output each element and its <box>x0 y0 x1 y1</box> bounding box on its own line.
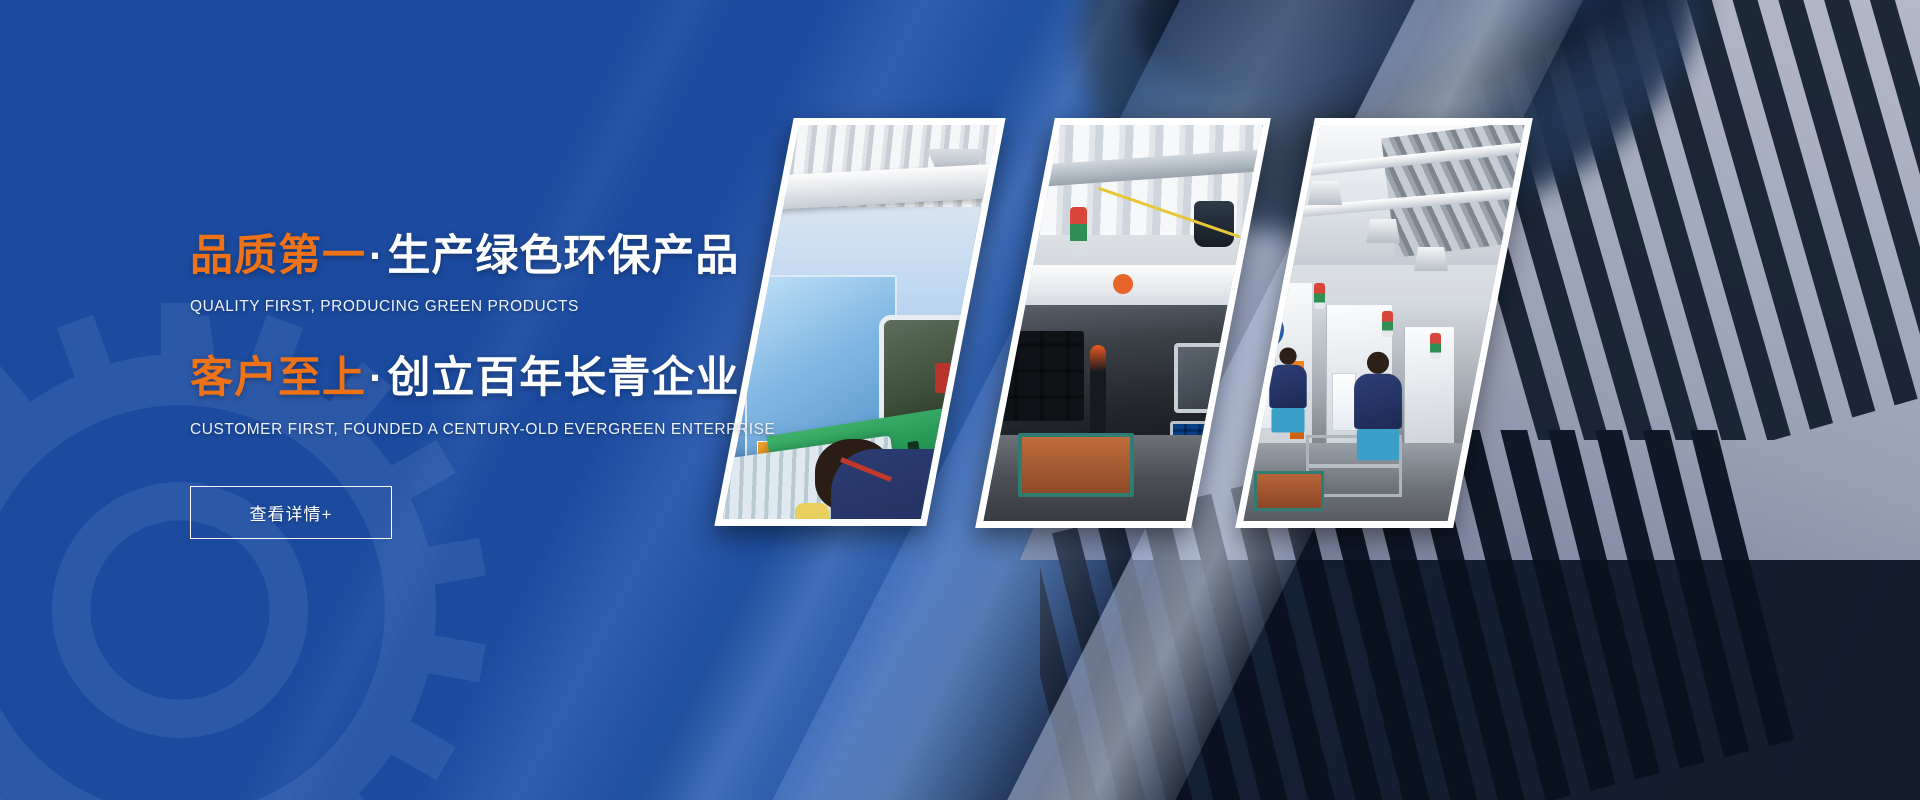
hero-banner: 品质第一·生产绿色环保产品 QUALITY FIRST, PRODUCING G… <box>0 0 1920 800</box>
photo-cnc-machining-centre[interactable] <box>975 118 1271 528</box>
headline-1-main: 生产绿色环保产品 <box>387 232 739 280</box>
headline-1-accent: 品质第一 <box>190 232 366 280</box>
headline-2-main: 创立百年长青企业 <box>387 354 739 402</box>
headline-1: 品质第一·生产绿色环保产品 <box>190 232 910 281</box>
headline-2: 客户至上·创立百年长青企业 <box>190 354 910 403</box>
subtitle-2: CUSTOMER FIRST, FOUNDED A CENTURY-OLD EV… <box>190 421 910 439</box>
copy-spacer <box>190 316 910 354</box>
headline-2-separator: · <box>366 354 387 402</box>
subtitle-1: QUALITY FIRST, PRODUCING GREEN PRODUCTS <box>190 298 910 316</box>
photo-machine-shop-aisle[interactable] <box>1235 118 1533 528</box>
headline-1-separator: · <box>366 232 387 280</box>
headline-2-accent: 客户至上 <box>190 354 366 402</box>
hero-copy: 品质第一·生产绿色环保产品 QUALITY FIRST, PRODUCING G… <box>190 232 910 539</box>
view-details-button[interactable]: 查看详情+ <box>190 486 392 539</box>
